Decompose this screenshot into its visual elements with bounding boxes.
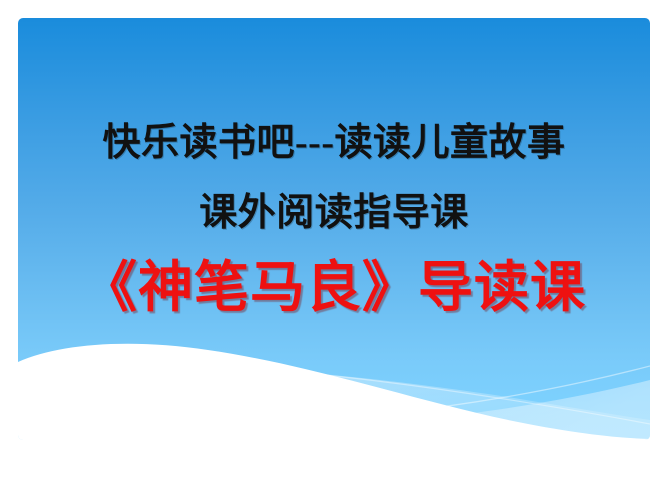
title-line-1: 快乐读书吧---读读儿童故事 <box>18 124 650 162</box>
title-line-2: 课外阅读指导课 <box>18 194 650 232</box>
title-line-3-main: 《神笔马良》导读课 <box>18 260 650 315</box>
presentation-slide: 快乐读书吧---读读儿童故事 课外阅读指导课 《神笔马良》导读课 <box>18 18 650 440</box>
slide-page: 快乐读书吧---读读儿童故事 课外阅读指导课 《神笔马良》导读课 <box>0 0 667 500</box>
title-text-block: 快乐读书吧---读读儿童故事 课外阅读指导课 《神笔马良》导读课 <box>18 18 650 440</box>
